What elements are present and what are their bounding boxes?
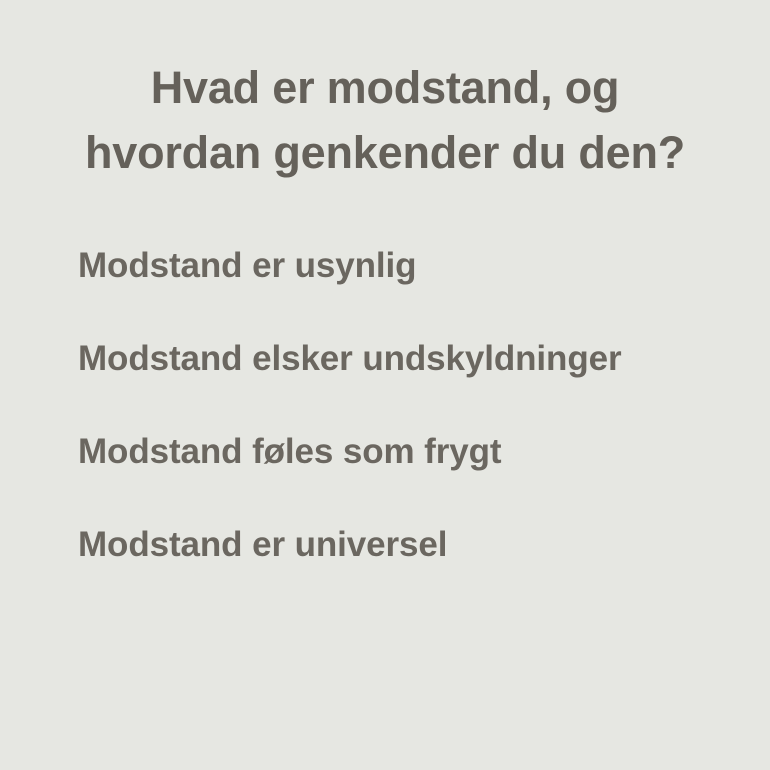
list-item: Modstand er universel (78, 527, 698, 563)
list-item: Modstand føles som frygt (78, 434, 698, 470)
list-item: Modstand er usynlig (78, 248, 698, 284)
slide-canvas: Hvad er modstand, og hvordan genkender d… (0, 0, 770, 770)
bullet-list: Modstand er usynlig Modstand elsker unds… (78, 248, 698, 563)
list-item: Modstand elsker undskyldninger (78, 341, 698, 377)
page-title: Hvad er modstand, og hvordan genkender d… (72, 55, 698, 185)
